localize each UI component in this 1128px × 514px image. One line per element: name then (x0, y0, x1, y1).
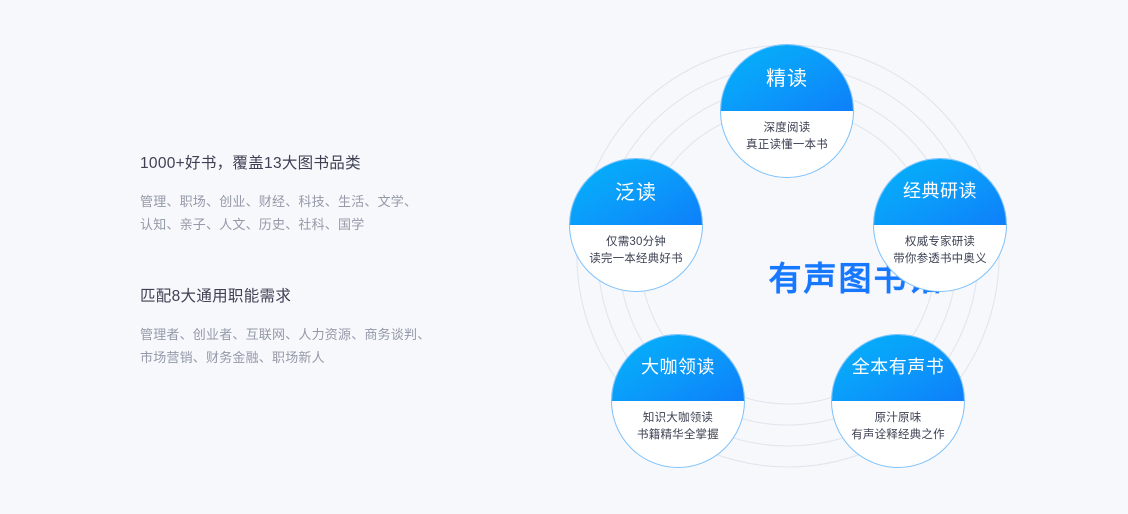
books-category-line-2: 认知、亲子、人文、历史、社科、国学 (140, 214, 470, 237)
roles-list: 管理者、创业者、互联网、人力资源、商务谈判、 市场营销、财务金融、职场新人 (140, 324, 470, 370)
diagram-node-jingdian-yandu[interactable]: 经典研读 权威专家研读 带你参透书中奥义 (873, 158, 1007, 292)
node-jingdu-line-2: 真正读懂一本书 (746, 137, 828, 154)
diagram-node-fandu[interactable]: 泛读 仅需30分钟 读完一本经典好书 (569, 158, 703, 292)
diagram-node-dakai-lingdu[interactable]: 大咖领读 知识大咖领读 书籍精华全掌握 (611, 334, 745, 468)
node-jingdian-line-1: 权威专家研读 (905, 234, 975, 251)
node-jingdu-line-1: 深度阅读 (764, 120, 811, 137)
node-quanben-line-1: 原汁原味 (875, 410, 922, 427)
books-category-line-1: 管理、职场、创业、财经、科技、生活、文学、 (140, 191, 470, 214)
audio-library-circular-diagram: 有声图书馆 精读 深度阅读 真正读懂一本书 泛读 仅需30分钟 读完一本经典好书… (540, 0, 1128, 514)
node-fandu-line-1: 仅需30分钟 (606, 234, 666, 251)
left-text-panel: 1000+好书，覆盖13大图书品类 管理、职场、创业、财经、科技、生活、文学、 … (140, 152, 470, 370)
books-heading: 1000+好书，覆盖13大图书品类 (140, 152, 470, 175)
feature-block-roles: 匹配8大通用职能需求 管理者、创业者、互联网、人力资源、商务谈判、 市场营销、财… (140, 285, 470, 370)
diagram-node-jingdu[interactable]: 精读 深度阅读 真正读懂一本书 (720, 44, 854, 178)
books-category-list: 管理、职场、创业、财经、科技、生活、文学、 认知、亲子、人文、历史、社科、国学 (140, 191, 470, 237)
node-fandu-line-2: 读完一本经典好书 (589, 251, 683, 268)
roles-line-2: 市场营销、财务金融、职场新人 (140, 347, 470, 370)
node-quanben-line-2: 有声诠释经典之作 (851, 427, 945, 444)
diagram-node-quanben-youshengshu[interactable]: 全本有声书 原汁原味 有声诠释经典之作 (831, 334, 965, 468)
node-dakai-line-1: 知识大咖领读 (643, 410, 713, 427)
roles-heading: 匹配8大通用职能需求 (140, 285, 470, 308)
feature-block-books: 1000+好书，覆盖13大图书品类 管理、职场、创业、财经、科技、生活、文学、 … (140, 152, 470, 237)
roles-line-1: 管理者、创业者、互联网、人力资源、商务谈判、 (140, 324, 470, 347)
node-dakai-line-2: 书籍精华全掌握 (637, 427, 719, 444)
node-jingdian-line-2: 带你参透书中奥义 (893, 251, 987, 268)
